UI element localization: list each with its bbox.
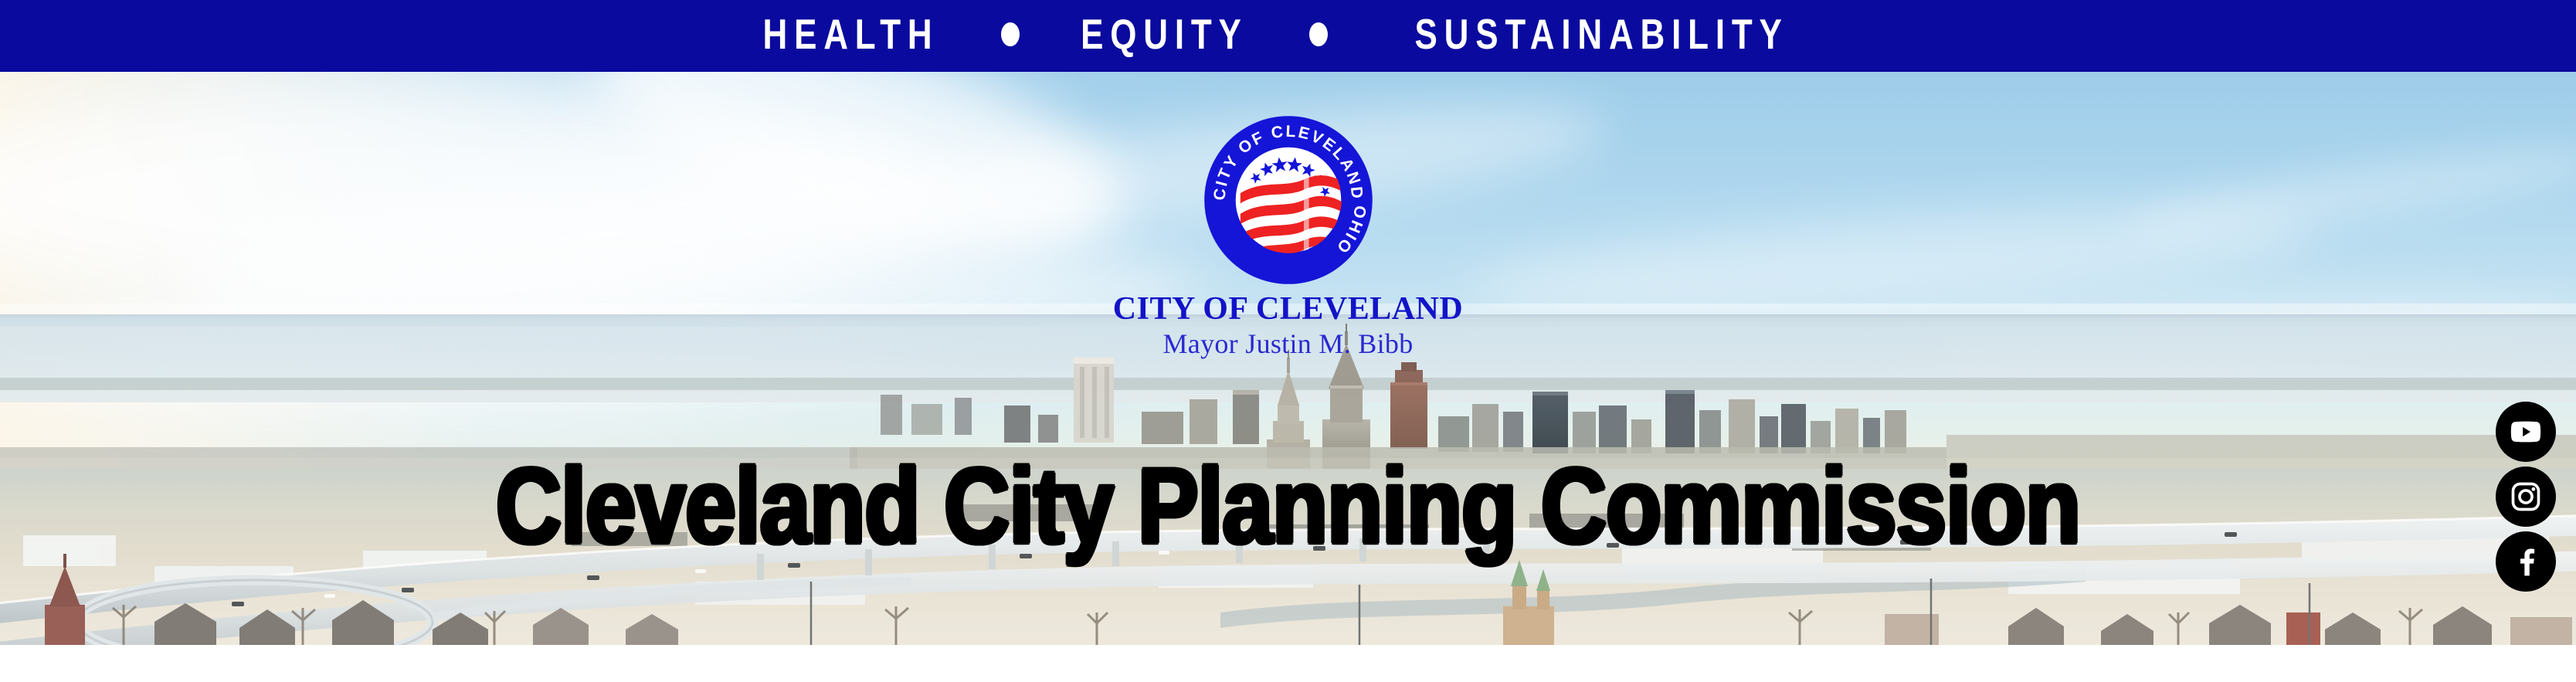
social-link-youtube[interactable] [2496,402,2556,462]
mayor-name-label: Mayor Justin M. Bibb [1010,329,1566,360]
city-name-label: CITY OF CLEVELAND [1010,292,1566,326]
banner-word-equity: EQUITY [1081,13,1248,56]
city-identity-block: CITY OF CLEVELAND OHIO [1010,114,1566,360]
banner-separator-dot-1 [1001,22,1020,46]
page-root: HEALTH EQUITY SUSTAINABILITY [0,0,2576,682]
social-links [2496,402,2556,592]
facebook-icon [2509,545,2543,579]
instagram-icon [2509,480,2543,514]
banner-separator-dot-2 [1309,22,1328,46]
banner-word-sustainability: SUSTAINABILITY [1414,13,1788,56]
values-banner-inner: HEALTH EQUITY SUSTAINABILITY [741,13,1835,56]
footer-whitespace [0,645,2576,682]
social-link-facebook[interactable] [2496,531,2556,592]
page-title: Cleveland City Planning Commission [0,453,2576,560]
city-of-cleveland-seal-icon: CITY OF CLEVELAND OHIO [1203,114,1374,286]
values-banner: HEALTH EQUITY SUSTAINABILITY [0,0,2576,72]
social-link-instagram[interactable] [2496,467,2556,527]
youtube-icon [2508,414,2544,450]
banner-word-health: HEALTH [763,13,939,56]
